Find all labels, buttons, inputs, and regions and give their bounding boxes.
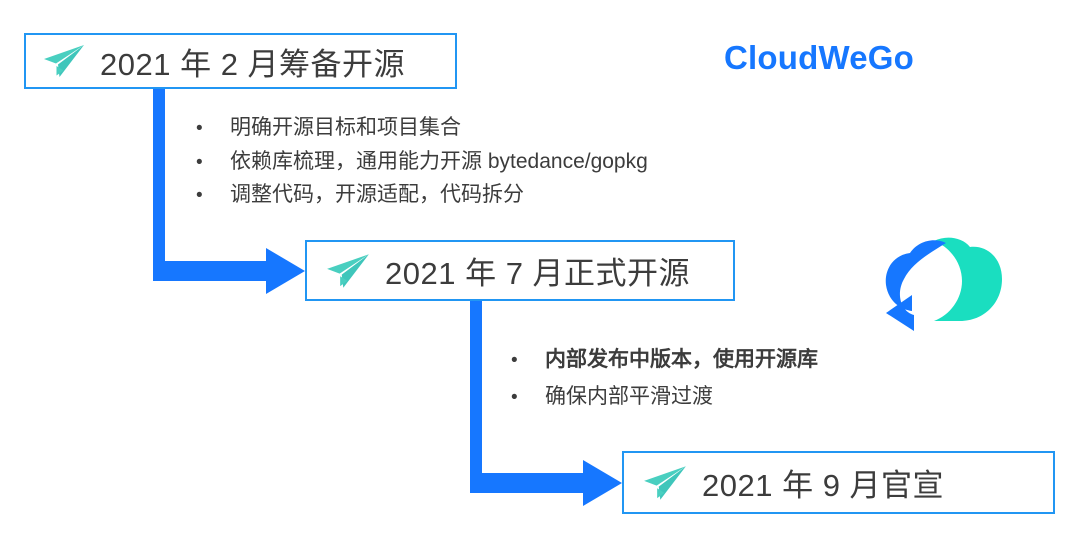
milestone-box-jul-2021[interactable]: 2021 年 7 月正式开源 (305, 240, 735, 301)
paper-plane-icon (642, 465, 688, 501)
bullet-marker: • (196, 153, 230, 172)
bullet-marker: • (511, 388, 545, 407)
bullet-group-jul-2021: • 内部发布中版本，使用开源库 • 确保内部平滑过渡 (511, 346, 818, 419)
list-item: • 依赖库梳理，通用能力开源 bytedance/gopkg (196, 148, 648, 176)
brand-wordmark: CloudWeGo (724, 39, 914, 77)
bullet-text: 明确开源目标和项目集合 (230, 114, 461, 142)
cloudwego-cloud-logo (884, 233, 1008, 333)
bullet-text: 依赖库梳理，通用能力开源 bytedance/gopkg (230, 148, 648, 176)
bullet-text: 确保内部平滑过渡 (545, 383, 713, 411)
list-item: • 内部发布中版本，使用开源库 (511, 346, 818, 374)
bullet-marker: • (196, 186, 230, 205)
list-item: • 调整代码，开源适配，代码拆分 (196, 181, 648, 209)
paper-plane-icon (42, 44, 86, 78)
slide-canvas: 2021 年 2 月筹备开源 • 明确开源目标和项目集合 • 依赖库梳理，通用能… (0, 0, 1080, 546)
paper-plane-icon (325, 253, 371, 289)
bullet-marker: • (511, 351, 545, 370)
list-item: • 明确开源目标和项目集合 (196, 114, 648, 142)
bullet-text: 内部发布中版本，使用开源库 (545, 346, 818, 374)
arrow-cloud-shape (886, 240, 946, 331)
milestone-label: 2021 年 2 月筹备开源 (100, 39, 405, 84)
bullet-marker: • (196, 119, 230, 138)
milestone-box-feb-2021[interactable]: 2021 年 2 月筹备开源 (24, 33, 457, 89)
bullet-text: 调整代码，开源适配，代码拆分 (230, 181, 524, 209)
milestone-label: 2021 年 7 月正式开源 (385, 248, 690, 293)
teal-cloud-shape (934, 238, 1002, 321)
list-item: • 确保内部平滑过渡 (511, 383, 818, 411)
milestone-label: 2021 年 9 月官宣 (702, 460, 944, 505)
bullet-group-feb-2021: • 明确开源目标和项目集合 • 依赖库梳理，通用能力开源 bytedance/g… (196, 114, 648, 215)
milestone-box-sep-2021[interactable]: 2021 年 9 月官宣 (622, 451, 1055, 514)
